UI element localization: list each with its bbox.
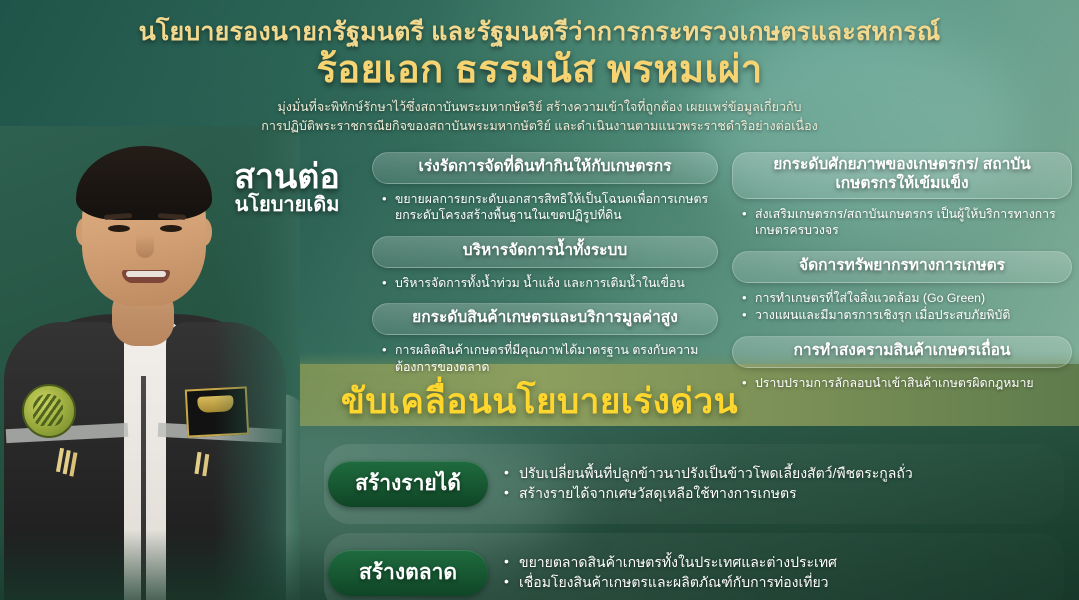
portrait-eye-right (160, 225, 182, 232)
header-subtitle-line-2: การปฏิบัติพระราชกรณียกิจของสถาบันพระมหาก… (0, 117, 1079, 135)
policy-bullets-land: ขยายผลการยกระดับเอกสารสิทธิให้เป็นโฉนดเพ… (372, 191, 718, 224)
continue-policy-title: สานต่อ (212, 160, 362, 194)
policy-bullets-value-added: การผลิตสินค้าเกษตรที่มีคุณภาพได้มาตรฐาน … (372, 342, 718, 375)
urgent-item: ปรับเปลี่ยนพื้นที่ปลูกข้าวนาปรังเป็นข้าว… (504, 464, 1056, 484)
policy-bullets-water: บริหารจัดการทั้งน้ำท่วม น้ำแล้ง และการเต… (372, 275, 718, 291)
policy-bullet: การผลิตสินค้าเกษตรที่มีคุณภาพได้มาตรฐาน … (382, 342, 714, 375)
urgent-item: เชื่อมโยงสินค้าเกษตรและผลิตภัณฑ์กับการท่… (504, 573, 1056, 593)
portrait-bottom-fade (0, 530, 300, 600)
portrait-nose (136, 234, 154, 258)
portrait-eye-left (108, 225, 130, 232)
policy-bullet: ส่งเสริมเกษตรกร/สถาบันเกษตรกร เป็นผู้ให้… (742, 206, 1068, 239)
minister-name: ร้อยเอก ธรรมนัส พรหมเผ่า (0, 49, 1079, 93)
policy-column-right: ยกระดับศักยภาพของเกษตรกร/ สถาบันเกษตรกรใ… (732, 152, 1072, 403)
policy-bullet: วางแผนและมีมาตรการเชิงรุก เมื่อประสบภัยพ… (742, 307, 1068, 323)
header-subtitle-line-1: มุ่งมั่นที่จะพิทักษ์รักษาไว้ซึ่งสถาบันพร… (0, 98, 1079, 116)
policy-bullets-farmer-capacity: ส่งเสริมเกษตรกร/สถาบันเกษตรกร เป็นผู้ให้… (732, 206, 1072, 239)
header-subtitle: มุ่งมั่นที่จะพิทักษ์รักษาไว้ซึ่งสถาบันพร… (0, 98, 1079, 134)
continue-policy-label: สานต่อ นโยบายเดิม (212, 160, 362, 217)
urgent-item: ขยายตลาดสินค้าเกษตรทั้งในประเทศและต่างปร… (504, 553, 1056, 573)
urgent-policy-title: ขับเคลื่อนนโยบายเร่งด่วน (0, 374, 1079, 429)
urgent-tag-income[interactable]: สร้างรายได้ (328, 461, 488, 507)
policy-heading-land[interactable]: เร่งรัดการจัดที่ดินทำกินให้กับเกษตรกร (372, 152, 718, 184)
policy-heading-farmer-capacity[interactable]: ยกระดับศักยภาพของเกษตรกร/ สถาบันเกษตรกรใ… (732, 152, 1072, 199)
urgent-policy-rows: สร้างรายได้ ปรับเปลี่ยนพื้นที่ปลูกข้าวนา… (324, 444, 1064, 600)
header-title-line: นโยบายรองนายกรัฐมนตรี และรัฐมนตรีว่าการก… (0, 18, 1079, 47)
continue-policy-subtitle: นโยบายเดิม (212, 194, 362, 217)
policy-bullet: ขยายผลการยกระดับเอกสารสิทธิให้เป็นโฉนดเพ… (382, 191, 714, 224)
urgent-item: สร้างรายได้จากเศษวัสดุเหลือใช้ทางการเกษต… (504, 484, 1056, 504)
policy-column-left: เร่งรัดการจัดที่ดินทำกินให้กับเกษตรกร ขย… (372, 152, 718, 387)
poster-header: นโยบายรองนายกรัฐมนตรี และรัฐมนตรีว่าการก… (0, 0, 1079, 135)
policy-bullet: การทำเกษตรที่ใส่ใจสิ่งแวดล้อม (Go Green) (742, 290, 1068, 306)
urgent-items-market: ขยายตลาดสินค้าเกษตรทั้งในประเทศและต่างปร… (504, 553, 1056, 593)
urgent-items-income: ปรับเปลี่ยนพื้นที่ปลูกข้าวนาปรังเป็นข้าว… (504, 464, 1056, 504)
policy-bullets-resources: การทำเกษตรที่ใส่ใจสิ่งแวดล้อม (Go Green)… (732, 290, 1072, 324)
urgent-tag-market[interactable]: สร้างตลาด (328, 550, 488, 596)
urgent-row-income[interactable]: สร้างรายได้ ปรับเปลี่ยนพื้นที่ปลูกข้าวนา… (324, 444, 1064, 524)
portrait-teeth (126, 271, 166, 277)
policy-heading-water[interactable]: บริหารจัดการน้ำทั้งระบบ (372, 236, 718, 268)
policy-heading-value-added[interactable]: ยกระดับสินค้าเกษตรและบริการมูลค่าสูง (372, 303, 718, 335)
policy-heading-resources[interactable]: จัดการทรัพยากรทางการเกษตร (732, 251, 1072, 283)
urgent-row-market[interactable]: สร้างตลาด ขยายตลาดสินค้าเกษตรทั้งในประเท… (324, 533, 1064, 600)
policy-heading-illegal-goods[interactable]: การทำสงครามสินค้าเกษตรเถื่อน (732, 336, 1072, 368)
policy-bullet: บริหารจัดการทั้งน้ำท่วม น้ำแล้ง และการเต… (382, 275, 714, 291)
policy-infographic-poster: นโยบายรองนายกรัฐมนตรี และรัฐมนตรีว่าการก… (0, 0, 1079, 600)
